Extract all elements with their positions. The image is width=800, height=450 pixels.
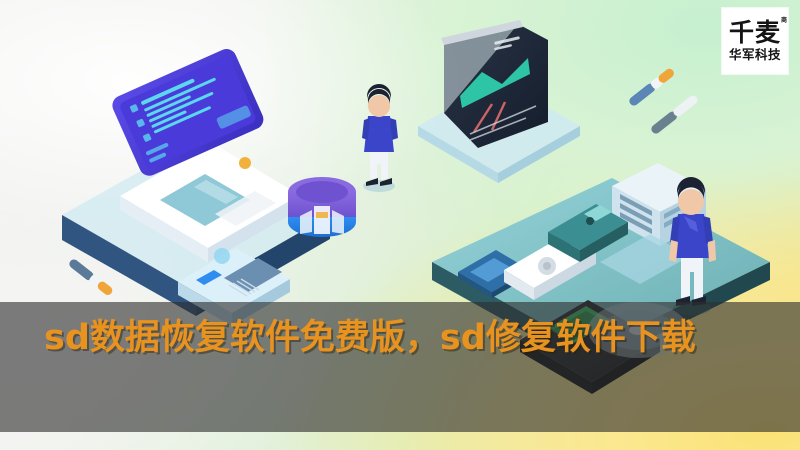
monitor-display — [418, 20, 580, 183]
caption-title: sd数据恢复软件免费版，sd修复软件下载 — [44, 316, 744, 361]
floating-stylus-right-a — [628, 67, 676, 107]
brand-logo: 千麦 商 华军科技 — [722, 8, 788, 74]
person-center-back — [362, 84, 398, 192]
floating-stylus-right-b — [650, 94, 700, 136]
banner-image: 千麦 商 华军科技 sd数据恢复软件免费版，sd修复软件下载 — [0, 0, 800, 450]
logo-main-text: 千麦 商 — [729, 20, 781, 46]
logo-sub-label: 华军科技 — [729, 48, 781, 62]
logo-main-label: 千麦 — [729, 18, 781, 47]
data-cylinder — [288, 177, 356, 237]
trademark-icon: 商 — [781, 18, 788, 24]
